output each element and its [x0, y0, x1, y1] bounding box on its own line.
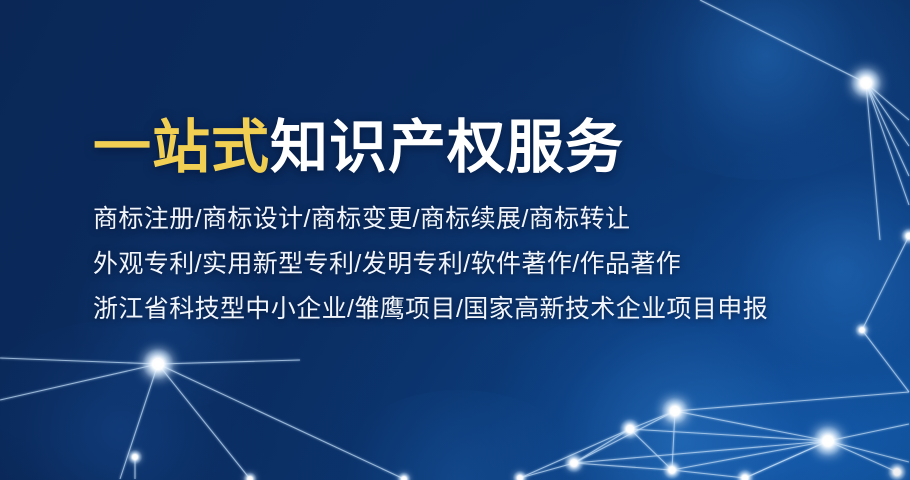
page-title: 一站式知识产权服务 — [93, 118, 833, 179]
service-line-list: 商标注册/商标设计/商标变更/商标续展/商标转让 外观专利/实用新型专利/发明专… — [93, 207, 833, 322]
page-title-rest: 知识产权服务 — [270, 115, 624, 180]
copy-block: 一站式知识产权服务 商标注册/商标设计/商标变更/商标续展/商标转让 外观专利/… — [93, 118, 833, 322]
service-line-trademark: 商标注册/商标设计/商标变更/商标续展/商标转让 — [93, 207, 833, 232]
page-title-highlight: 一站式 — [93, 115, 270, 180]
service-line-enterprise: 浙江省科技型中小企业/雏鹰项目/国家高新技术企业项目申报 — [93, 297, 833, 322]
promo-banner: 一站式知识产权服务 商标注册/商标设计/商标变更/商标续展/商标转让 外观专利/… — [0, 0, 910, 480]
service-line-patent: 外观专利/实用新型专利/发明专利/软件著作/作品著作 — [93, 252, 833, 277]
